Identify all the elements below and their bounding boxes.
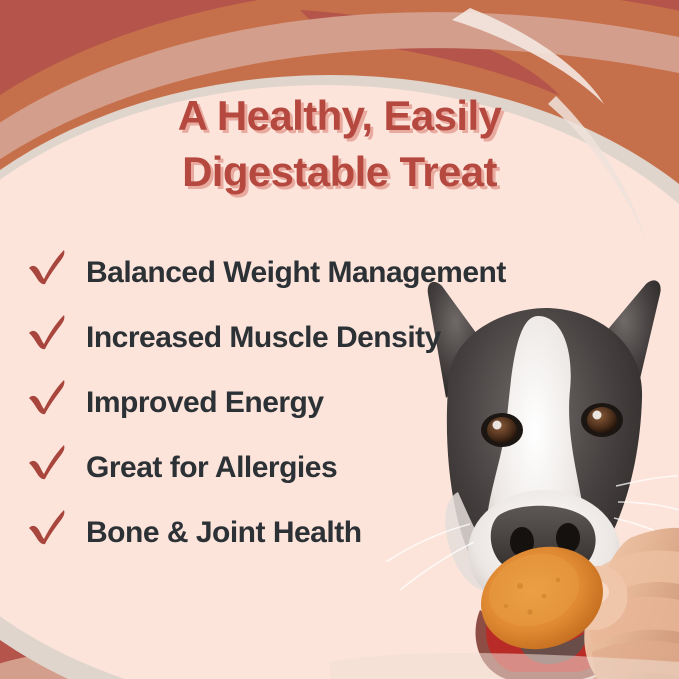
check-icon (24, 309, 70, 355)
list-item: Balanced Weight Management (0, 240, 679, 305)
promotional-poster: A Healthy, Easily Digestable Treat Balan… (0, 0, 679, 679)
list-item: Improved Energy (0, 370, 679, 435)
list-item: Bone & Joint Health (0, 500, 679, 565)
benefits-list: Balanced Weight Management Increased Mus… (0, 240, 679, 565)
benefit-label: Increased Muscle Density (86, 321, 441, 355)
benefit-label: Improved Energy (86, 386, 324, 420)
benefit-label: Balanced Weight Management (86, 256, 506, 290)
check-icon (24, 439, 70, 485)
list-item: Increased Muscle Density (0, 305, 679, 370)
list-item: Great for Allergies (0, 435, 679, 500)
benefit-label: Bone & Joint Health (86, 516, 362, 550)
check-icon (24, 374, 70, 420)
check-icon (24, 244, 70, 290)
benefit-label: Great for Allergies (86, 451, 337, 485)
check-icon (24, 504, 70, 550)
